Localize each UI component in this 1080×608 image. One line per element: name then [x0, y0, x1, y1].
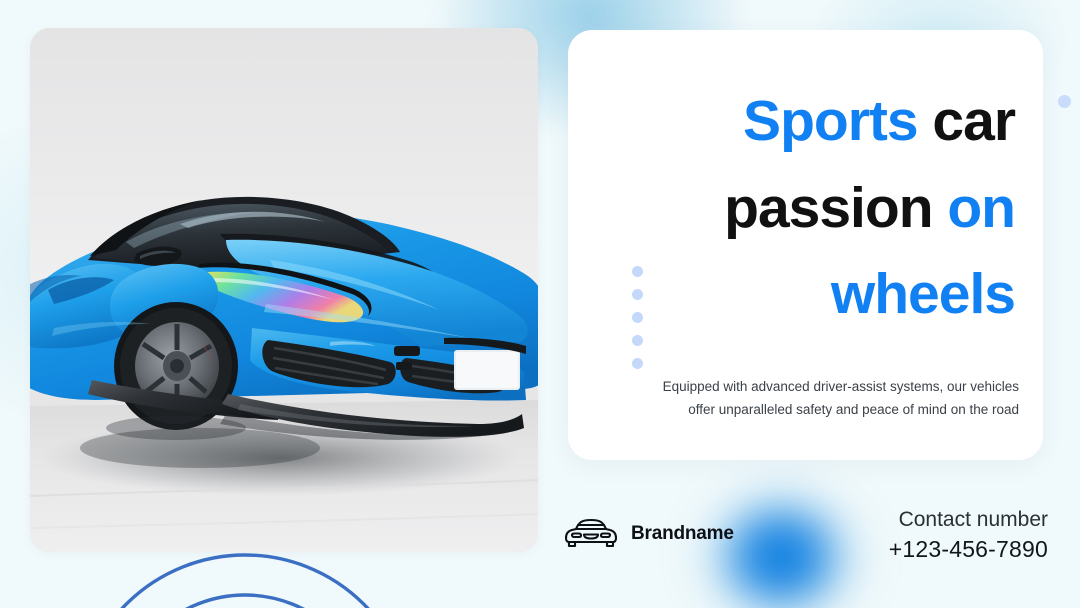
- body-paragraph: Equipped with advanced driver-assist sys…: [639, 375, 1019, 421]
- headline-word-passion: passion: [724, 176, 947, 240]
- decorative-dot: [632, 312, 643, 323]
- decorative-dot: [632, 335, 643, 346]
- decorative-dot: [632, 266, 643, 277]
- poster-canvas: Sports car passion on wheels Equipped wi…: [0, 0, 1080, 608]
- decorative-dot: [632, 358, 643, 369]
- brand-lockup: Brandname: [563, 516, 734, 552]
- contact-number: +123-456-7890: [889, 534, 1048, 565]
- headline-word-on: on: [947, 176, 1015, 240]
- car-illustration: [30, 28, 538, 552]
- decorative-dot: [632, 289, 643, 300]
- page-title: Sports car passion on wheels: [615, 78, 1015, 338]
- headline-card: Sports car passion on wheels Equipped wi…: [568, 30, 1043, 460]
- decorative-dot-column: [632, 266, 643, 369]
- hero-car-photo: [30, 28, 538, 552]
- brand-name: Brandname: [631, 523, 734, 545]
- headline-word-sports: Sports: [743, 89, 918, 153]
- contact-block: Contact number +123-456-7890: [889, 506, 1048, 565]
- car-front-icon: [563, 516, 619, 552]
- headline-word-car: car: [918, 89, 1015, 153]
- contact-label: Contact number: [889, 506, 1048, 534]
- headline-word-wheels: wheels: [831, 262, 1015, 326]
- decorative-edge-dot: [1058, 95, 1071, 108]
